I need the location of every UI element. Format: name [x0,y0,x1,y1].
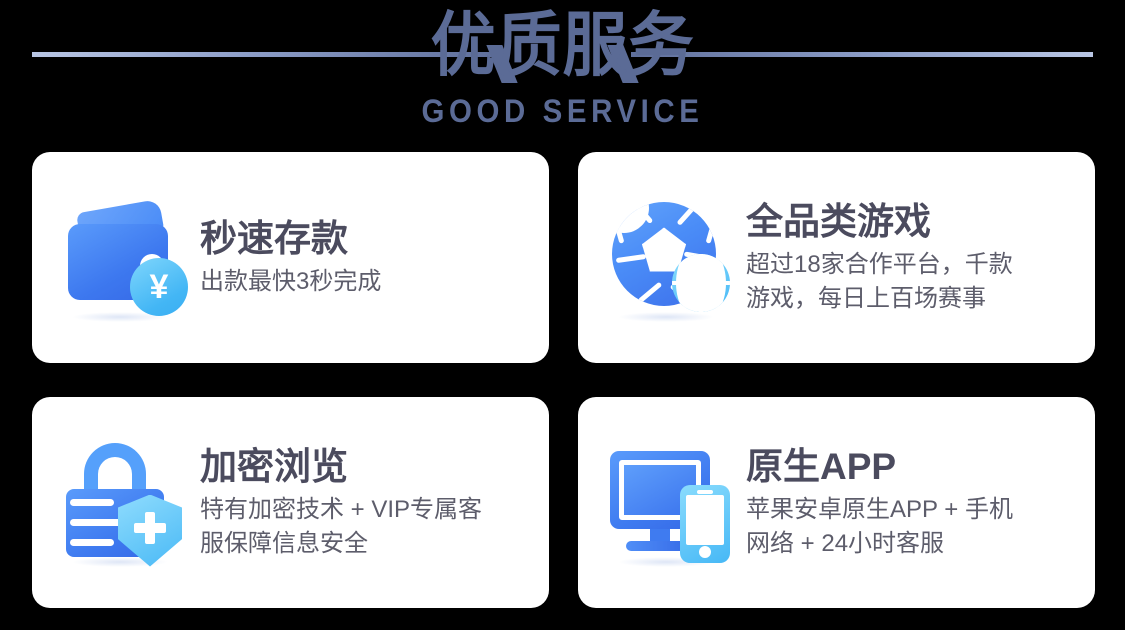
lock-slot [70,519,124,526]
card-subtitle: 特有加密技术 + VIP专属客 服保障信息安全 [200,493,531,561]
basketball-icon [672,254,730,312]
yen-coin-icon: ¥ [130,258,188,316]
icon-shadow [618,312,714,322]
card-subtitle-line: 网络 + 24小时客服 [746,527,1077,561]
card-subtitle: 出款最快3秒完成 [200,265,531,299]
basketball-line [672,281,730,285]
card-subtitle-line: 出款最快3秒完成 [200,265,531,299]
feature-card-deposit[interactable]: ¥ 秒速存款 出款最快3秒完成 [32,152,549,363]
phone-icon [680,485,730,563]
card-subtitle: 苹果安卓原生APP + 手机 网络 + 24小时客服 [746,493,1077,561]
lock-slot [70,539,114,546]
card-subtitle-line: 特有加密技术 + VIP专属客 [200,493,531,527]
soccer-seam [616,253,646,262]
wallet-yen-icon: ¥ [60,192,192,324]
feature-card-encryption[interactable]: 加密浏览 特有加密技术 + VIP专属客 服保障信息安全 [32,397,549,608]
phone-home-button [699,546,711,558]
monitor-phone-icon [606,437,738,569]
lock-slot [70,499,114,506]
card-subtitle-line: 服保障信息安全 [200,527,531,561]
phone-speaker [697,490,713,494]
soccer-seam [706,221,716,244]
card-title: 加密浏览 [200,445,531,489]
lock-shield-icon [60,437,192,569]
card-text-block: 加密浏览 特有加密技术 + VIP专属客 服保障信息安全 [192,445,531,561]
plus-icon [134,512,166,544]
card-subtitle-line: 游戏，每日上百场赛事 [746,282,1077,316]
card-subtitle-line: 超过18家合作平台，千款 [746,248,1077,282]
page-subtitle: GOOD SERVICE [45,92,1080,130]
card-text-block: 秒速存款 出款最快3秒完成 [192,217,531,299]
feature-card-games[interactable]: 全品类游戏 超过18家合作平台，千款 游戏，每日上百场赛事 [578,152,1095,363]
card-title: 原生APP [746,445,1077,489]
soccer-basketball-icon [606,192,738,324]
soccer-seam [676,203,697,226]
feature-card-grid: ¥ 秒速存款 出款最快3秒完成 [32,152,1095,608]
card-title: 秒速存款 [200,217,531,261]
soccer-seam [638,281,663,303]
phone-screen [686,495,724,545]
card-subtitle-line: 苹果安卓原生APP + 手机 [746,493,1077,527]
card-title: 全品类游戏 [746,200,1077,244]
card-text-block: 全品类游戏 超过18家合作平台，千款 游戏，每日上百场赛事 [738,200,1077,316]
feature-card-native-app[interactable]: 原生APP 苹果安卓原生APP + 手机 网络 + 24小时客服 [578,397,1095,608]
card-text-block: 原生APP 苹果安卓原生APP + 手机 网络 + 24小时客服 [738,445,1077,561]
card-subtitle: 超过18家合作平台，千款 游戏，每日上百场赛事 [746,248,1077,316]
page-header: 优质服务 GOOD SERVICE [0,0,1125,150]
page-title: 优质服务 [39,6,1085,84]
